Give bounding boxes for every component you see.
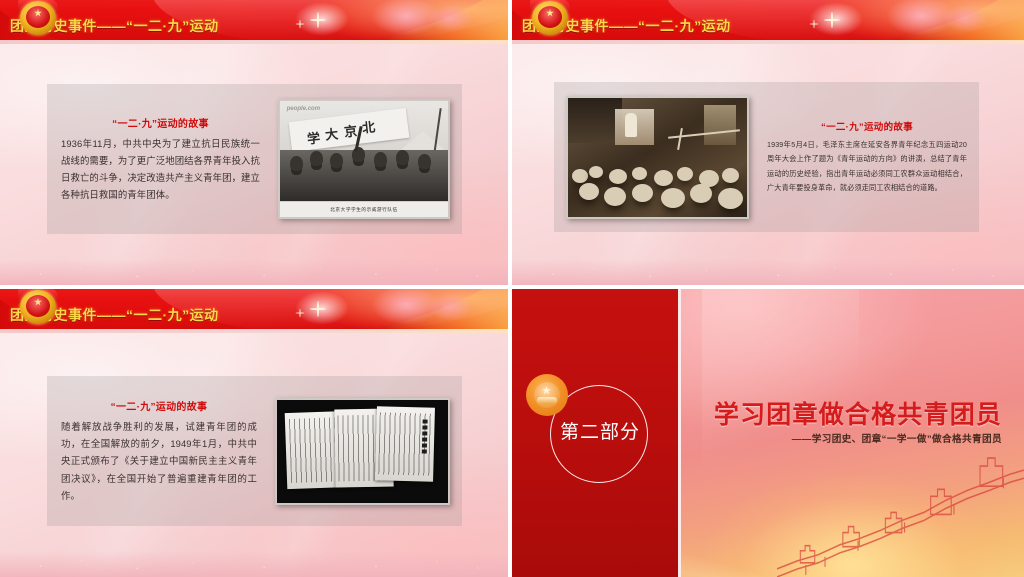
historical-photo-student-march: 北 京 大 学 people.com 北京大学学生的示威游 [278, 99, 450, 219]
section-title: 学习团章做合格共青团员 [708, 395, 1008, 431]
document-sheet [375, 406, 435, 482]
photo-person [418, 154, 431, 169]
slide-thumbnail-4[interactable]: 第二部分 学习团章做合格共青团员 ——学习团史、团章“一学一做”做合格共青团员 [512, 289, 1024, 577]
photo-banner-char-2: 京 [343, 120, 358, 140]
photo-audience [568, 143, 747, 217]
content-card: “一二·九”运动的故事 1936年11月，中共中央为了建立抗日民族统一战线的需要… [47, 84, 462, 234]
card-photo-wrapper [554, 96, 761, 219]
photo-person [654, 170, 673, 186]
photo-person [374, 152, 387, 167]
photo-person [632, 184, 653, 202]
card-heading: “一二·九”运动的故事 [767, 119, 967, 133]
photo-watermark: people.com [287, 106, 320, 112]
photo-window [704, 105, 736, 145]
grid-gutter-horizontal [0, 285, 1024, 289]
photo-person [632, 167, 647, 180]
photo-person [579, 183, 599, 200]
banner-bokeh-c [427, 293, 473, 321]
banner-sparkle-small-icon [296, 20, 305, 29]
card-paragraph: 1939年5月4日，毛泽东主席在延安各界青年纪念五四运动20周年大会上作了题为《… [767, 138, 967, 194]
cyl-emblem-icon [14, 289, 62, 330]
slide-thumbnail-2[interactable]: 团的历史事件——“一二·九”运动 “一二·九”运动的故事 1939年5月4日，毛… [512, 0, 1024, 285]
banner-bokeh-c [942, 4, 988, 32]
photo-banner-char-3: 大 [324, 124, 339, 144]
card-photo-wrapper: 北 京 大 学 people.com 北京大学学生的示威游 [266, 99, 462, 219]
card-text-block: “一二·九”运动的故事 1936年11月，中共中央为了建立抗日民族统一战线的需要… [47, 115, 266, 203]
photo-banner-char-1: 北 [361, 117, 376, 137]
photo-person [330, 153, 343, 168]
card-heading: “一二·九”运动的故事 [61, 115, 260, 130]
photo-person [677, 167, 693, 181]
photo-person [310, 151, 323, 166]
banner-sparkle-icon [310, 12, 326, 28]
photo-person [609, 169, 627, 184]
card-photo-wrapper [263, 398, 462, 505]
photo-speaker [625, 113, 637, 137]
cyl-emblem-icon [526, 0, 574, 41]
photo-person [690, 184, 712, 203]
card-text-block: “一二·九”运动的故事 随着解放战争胜利的发展，试建青年团的成功，在全国解放的前… [47, 398, 263, 504]
cyl-emblem-icon [14, 0, 62, 41]
banner-sparkle-small-icon [296, 309, 305, 318]
content-card: “一二·九”运动的故事 随着解放战争胜利的发展，试建青年团的成功，在全国解放的前… [47, 376, 462, 526]
historical-photo-resolution-document [275, 398, 450, 505]
slide-thumbnail-grid: 团的历史事件——“一二·九”运动 “一二·九”运动的故事 1936年11月，中共… [0, 0, 1024, 577]
card-text-block: “一二·九”运动的故事 1939年5月4日，毛泽东主席在延安各界青年纪念五四运动… [761, 119, 979, 194]
banner-sparkle-small-icon [810, 20, 819, 29]
background-sparkles [512, 261, 1024, 283]
background-sparkles [0, 553, 508, 575]
photo-person [722, 168, 739, 183]
photo-person [604, 187, 626, 206]
content-card: “一二·九”运动的故事 1939年5月4日，毛泽东主席在延安各界青年纪念五四运动… [554, 82, 979, 232]
photo-person [589, 166, 603, 178]
photo-person [661, 188, 685, 208]
banner-sparkle-icon [310, 301, 326, 317]
slide-thumbnail-3[interactable]: 团的历史事件——“一二·九”运动 “一二·九”运动的故事 随着解放战争胜利的发展… [0, 289, 508, 577]
card-paragraph: 随着解放战争胜利的发展，试建青年团的成功，在全国解放的前夕，1949年1月，中共… [61, 418, 257, 504]
banner-sparkle-icon [824, 12, 840, 28]
card-heading: “一二·九”运动的故事 [61, 398, 257, 413]
emblem-glyph [534, 382, 560, 408]
slide-thumbnail-1[interactable]: 团的历史事件——“一二·九”运动 “一二·九”运动的故事 1936年11月，中共… [0, 0, 508, 285]
photo-person [718, 188, 743, 209]
historical-photo-yanan-assembly [566, 96, 749, 219]
photo-banner-char-4: 学 [306, 127, 321, 147]
background-sparkles [0, 261, 508, 283]
section-label: 第二部分 [560, 417, 670, 444]
cyl-emblem-icon [526, 374, 568, 416]
section-subtitle: ——学习团史、团章“一学一做”做合格共青团员 [708, 431, 1008, 445]
great-wall-silhouette-icon [777, 456, 1024, 577]
card-paragraph: 1936年11月，中共中央为了建立抗日民族统一战线的需要，为了更广泛地团结各界青… [61, 135, 260, 203]
photo-person [290, 156, 303, 171]
photo-person [396, 150, 409, 165]
banner-bokeh-c [427, 4, 473, 32]
photo-person [572, 169, 588, 183]
photo-caption: 北京大学学生的示威游行队伍 [280, 202, 448, 217]
